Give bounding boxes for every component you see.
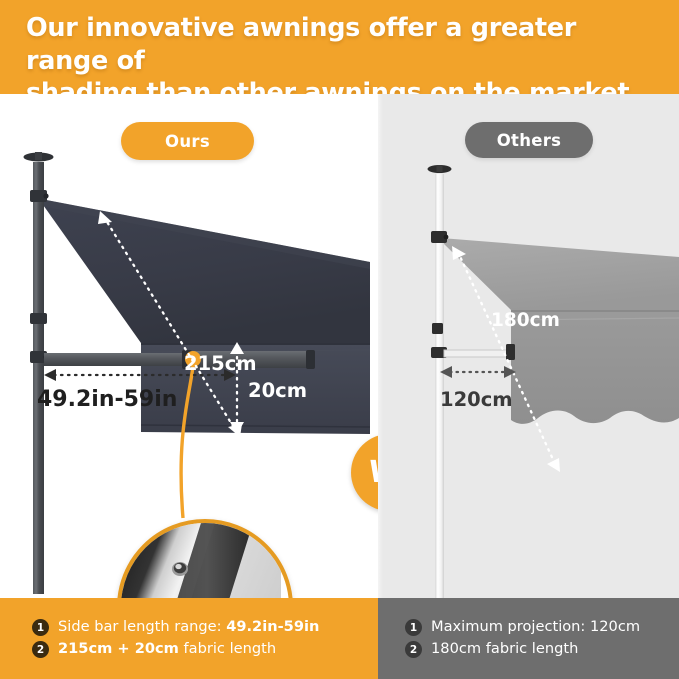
list-item: 1 Side bar length range: 49.2in-59in [32,619,378,636]
dim-180cm-label: 180cm [491,310,560,331]
panel-others: Others [378,94,679,598]
others-spec-list: 1 Maximum projection: 120cm 2 180cm fabr… [378,598,679,679]
dim-20cm-label: 20cm [248,379,307,402]
comparison-body: Ours [0,94,679,598]
spec-strong: 49.2in-59in [226,618,319,635]
awning-fabric [441,238,679,310]
page-title-line-1: Our innovative awnings offer a greater r… [26,12,665,77]
clamp-knob-upper [43,193,48,198]
side-bar-end-cap [306,350,315,369]
bullet-number-icon: 1 [405,619,422,636]
ours-spec-list: 1 Side bar length range: 49.2in-59in 2 2… [0,598,378,679]
pole-clamp-middle [30,313,47,324]
others-illustration: 180cm 120cm [378,94,679,598]
bullet-number-icon: 1 [32,619,49,636]
pole-top-stub [35,152,42,160]
dim-215cm-label: 215cm [184,352,257,375]
vertical-pole [33,162,44,594]
dim-sidebar-arrow-left [44,369,56,381]
dim-sidebar-label: 49.2in-59in [37,387,177,412]
vs-badge: VS [351,434,378,511]
list-item-label: 215cm + 20cm fabric length [58,641,276,658]
side-bar [444,350,514,357]
comparison-infographic: Our innovative awnings offer a greater r… [0,0,679,679]
list-item: 2 215cm + 20cm fabric length [32,641,378,658]
pole-top-stub [437,165,443,172]
footer-others: 1 Maximum projection: 120cm 2 180cm fabr… [378,598,679,679]
spec-suffix: fabric length [179,640,276,657]
footer-ours: 1 Side bar length range: 49.2in-59in 2 2… [0,598,378,679]
awning-fabric [41,199,370,343]
list-item-label: 180cm fabric length [431,641,578,658]
clamp-knob-upper [444,235,449,240]
bullet-number-icon: 2 [32,641,49,658]
list-item: 1 Maximum projection: 120cm [405,619,679,636]
dim-120cm-label: 120cm [440,388,513,411]
side-bar-end-cap [506,344,515,360]
dim-120cm: 120cm [440,366,516,411]
panel-ours: Ours [0,94,378,598]
dim-180cm-arrow-end [547,458,560,472]
list-item: 2 180cm fabric length [405,641,679,658]
header-banner: Our innovative awnings offer a greater r… [0,0,679,94]
bullet-number-icon: 2 [405,641,422,658]
list-item-label: Maximum projection: 120cm [431,619,640,636]
side-bar-inner [44,353,190,366]
pole-clamp-middle [432,323,443,334]
footer-bars: 1 Side bar length range: 49.2in-59in 2 2… [0,598,679,679]
list-item-label: Side bar length range: 49.2in-59in [58,619,319,636]
vs-label: VS [351,434,378,511]
spec-strong: 215cm + 20cm [58,640,179,657]
spec-prefix: Side bar length range: [58,618,226,635]
